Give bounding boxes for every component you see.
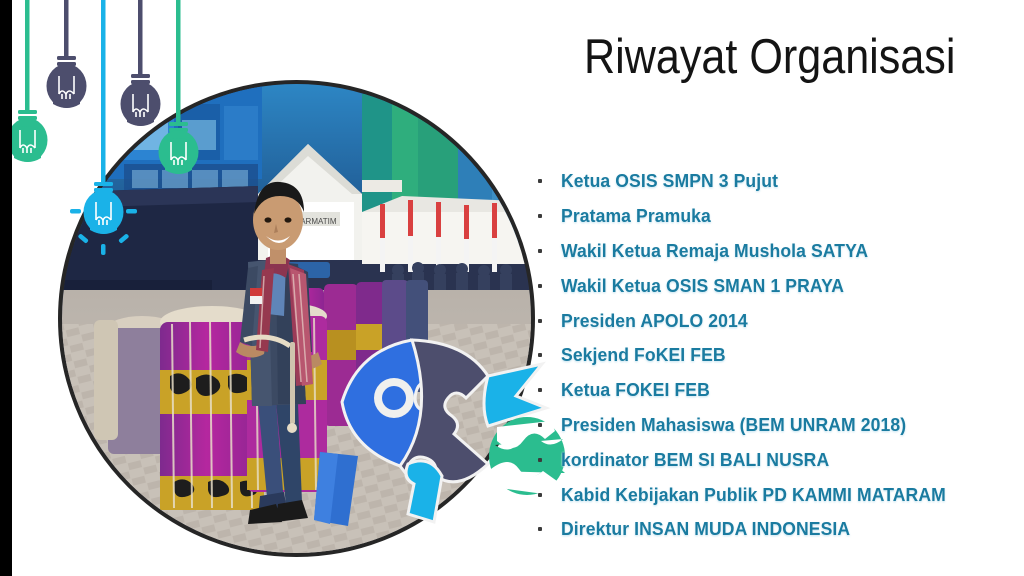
- bullet-dot-icon: [538, 527, 542, 531]
- lightbulb-green-2: [159, 0, 199, 174]
- list-item-label: Ketua OSIS SMPN 3 Pujut: [561, 170, 778, 192]
- list-item-label: Presiden APOLO 2014: [561, 310, 748, 332]
- list-item-label: Wakil Ketua Remaja Mushola SATYA: [561, 240, 868, 262]
- bullet-dot-icon: [538, 179, 542, 183]
- bullet-dot-icon: [538, 353, 542, 357]
- bullet-dot-icon: [538, 319, 542, 323]
- list-item[interactable]: Wakil Ketua OSIS SMAN 1 PRAYA: [533, 268, 1013, 303]
- list-item-label: Direktur INSAN MUDA INDONESIA: [561, 518, 850, 540]
- list-item[interactable]: Pratama Pramuka: [533, 199, 1013, 234]
- bullet-dot-icon: [538, 388, 542, 392]
- bullet-dot-icon: [538, 284, 542, 288]
- list-item-label: Pratama Pramuka: [561, 205, 711, 227]
- bullet-dot-icon: [538, 458, 542, 462]
- list-item-label: Wakil Ketua OSIS SMAN 1 PRAYA: [561, 275, 844, 297]
- lightbulb-navy-2: [121, 0, 161, 126]
- lightbulb-navy-1: [47, 0, 87, 108]
- list-item[interactable]: Presiden APOLO 2014: [533, 303, 1013, 338]
- list-item-label: Ketua FOKEI FEB: [561, 379, 710, 401]
- list-item[interactable]: kordinator BEM SI BALI NUSRA: [533, 442, 1013, 477]
- letterbox-bar-left: [0, 0, 12, 576]
- rocket-fin-bottom: [406, 461, 442, 522]
- slide-title: Riwayat Organisasi: [584, 26, 954, 88]
- list-item[interactable]: Direktur INSAN MUDA INDONESIA: [533, 512, 1013, 547]
- slide-canvas: NGGARMATIM: [0, 0, 1024, 576]
- bullet-dot-icon: [538, 493, 542, 497]
- list-item-label: Presiden Mahasiswa (BEM UNRAM 2018): [561, 414, 906, 436]
- list-item[interactable]: Kabid Kebijakan Publik PD KAMMI MATARAM: [533, 477, 1013, 512]
- lightbulb-decoration-group: [0, 0, 230, 290]
- lightbulb-cyan: [70, 0, 137, 255]
- list-item[interactable]: Ketua FOKEI FEB: [533, 373, 1013, 408]
- lightbulb-green-1: [8, 0, 48, 162]
- list-item-label: kordinator BEM SI BALI NUSRA: [561, 449, 829, 471]
- bullet-dot-icon: [538, 214, 542, 218]
- list-item-label: Sekjend FoKEI FEB: [561, 344, 726, 366]
- list-item[interactable]: Wakil Ketua Remaja Mushola SATYA: [533, 234, 1013, 269]
- list-item[interactable]: Sekjend FoKEI FEB: [533, 338, 1013, 373]
- list-item-label: Kabid Kebijakan Publik PD KAMMI MATARAM: [561, 484, 946, 506]
- bullet-dot-icon: [538, 423, 542, 427]
- list-item[interactable]: Presiden Mahasiswa (BEM UNRAM 2018): [533, 408, 1013, 443]
- organization-history-list: Ketua OSIS SMPN 3 Pujut Pratama Pramuka …: [533, 164, 1013, 547]
- bullet-dot-icon: [538, 249, 542, 253]
- list-item[interactable]: Ketua OSIS SMPN 3 Pujut: [533, 164, 1013, 199]
